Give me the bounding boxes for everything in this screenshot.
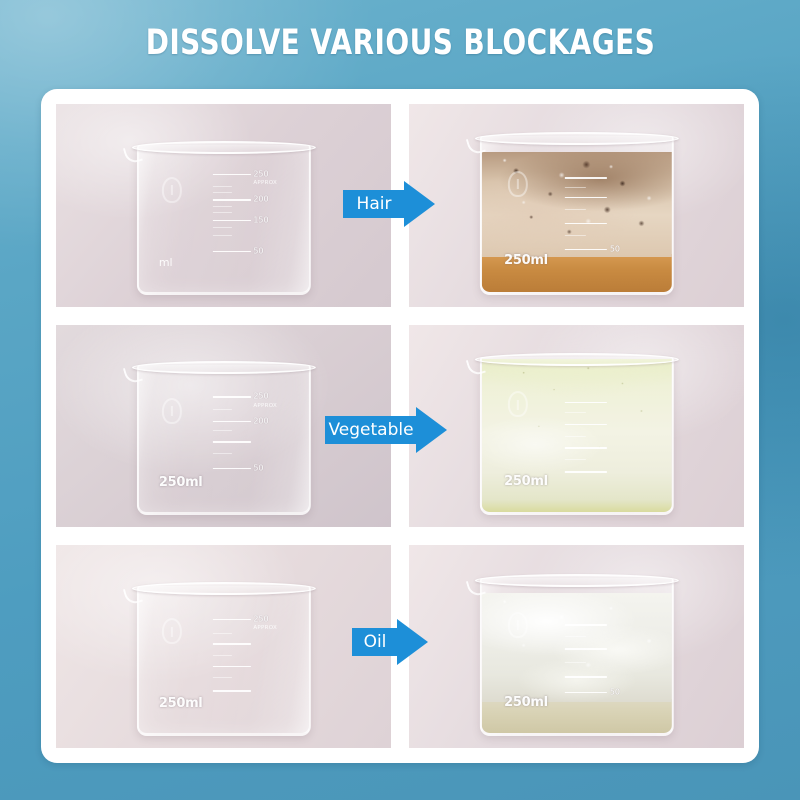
beaker-rim: [131, 582, 315, 595]
grad-label-50: 50: [610, 244, 620, 253]
graduation-scale: 50: [565, 603, 645, 702]
beaker-logo-icon: [162, 398, 182, 424]
beaker-unit-label: ml: [159, 256, 173, 269]
grad-label-250: 250: [253, 392, 268, 401]
grad-label-250: 250: [253, 614, 268, 623]
beaker-hair-after: 50 250ml: [479, 136, 673, 294]
cell-oil-after: 50 250ml: [409, 545, 744, 748]
beaker-rim: [474, 132, 678, 145]
beaker-glass: 250ml: [479, 357, 673, 515]
grad-label-200: 200: [253, 194, 268, 203]
beaker-volume-label: 250ml: [504, 253, 548, 268]
arrow-head-icon: [404, 181, 435, 227]
beaker-volume-label: 250ml: [159, 696, 203, 711]
beaker-logo-icon: [508, 171, 528, 197]
beaker-hair-before: 250 APPROX 200 150: [136, 145, 310, 295]
poster-root: DISSOLVE VARIOUS BLOCKAGES 250 APPROX: [0, 0, 800, 800]
graduation-scale: [565, 382, 645, 481]
cell-hair-after: 50 250ml: [409, 104, 744, 307]
beaker-logo-icon: [162, 618, 182, 644]
beaker-oil-after: 50 250ml: [479, 578, 673, 736]
beaker-glass: 250 APPROX 200 150: [136, 145, 310, 295]
arrow-head-icon: [397, 619, 428, 665]
beaker-glass: 50 250ml: [479, 136, 673, 294]
beaker-glass: 250 APPROX 200 50: [136, 365, 310, 515]
beaker-rim: [131, 361, 315, 374]
arrow-text: Hair: [357, 196, 392, 213]
cell-vegetable-after: 250ml: [409, 325, 744, 528]
grad-label-50: 50: [610, 687, 620, 696]
beaker-volume-label: 250ml: [159, 475, 203, 490]
arrow-label-vegetable[interactable]: Vegetable: [325, 416, 447, 444]
beaker-vegetable-after: 250ml: [479, 357, 673, 515]
beaker-logo-icon: [508, 391, 528, 417]
graduation-scale: 250 APPROX: [213, 609, 284, 703]
beaker-volume-label: 250ml: [504, 695, 548, 710]
title-bar: DISSOLVE VARIOUS BLOCKAGES: [0, 0, 800, 86]
arrow-label-hair[interactable]: Hair: [343, 190, 435, 218]
arrow-head-icon: [416, 407, 447, 453]
graduation-scale: 250 APPROX 200 150: [213, 168, 284, 262]
beaker-glass: 250 APPROX 250ml: [136, 586, 310, 736]
beaker-oil-before: 250 APPROX 250ml: [136, 586, 310, 736]
grad-label-approx: APPROX: [253, 180, 277, 186]
graduation-scale: 250 APPROX 200 50: [213, 389, 284, 483]
beaker-rim: [474, 353, 678, 366]
grad-label-250: 250: [253, 169, 268, 178]
arrow-shaft: Oil: [352, 628, 398, 656]
grad-label-150: 150: [253, 215, 268, 224]
beaker-rim: [131, 141, 315, 154]
arrow-shaft: Hair: [343, 190, 405, 218]
grad-label-50: 50: [253, 463, 263, 472]
cell-hair-before: 250 APPROX 200 150: [56, 104, 391, 307]
page-title: DISSOLVE VARIOUS BLOCKAGES: [145, 23, 655, 63]
grad-label-approx: APPROX: [253, 403, 277, 409]
arrow-text: Oil: [364, 634, 387, 651]
beaker-logo-icon: [162, 177, 182, 203]
arrow-text: Vegetable: [328, 422, 413, 439]
beaker-logo-icon: [508, 612, 528, 638]
beaker-vegetable-before: 250 APPROX 200 50: [136, 365, 310, 515]
grad-label-200: 200: [253, 416, 268, 425]
beaker-volume-label: 250ml: [504, 474, 548, 489]
cell-oil-before: 250 APPROX 250ml: [56, 545, 391, 748]
beaker-glass: 50 250ml: [479, 578, 673, 736]
beaker-rim: [474, 574, 678, 587]
arrow-label-oil[interactable]: Oil: [352, 628, 428, 656]
graduation-scale: 50: [565, 161, 645, 260]
grad-label-approx: APPROX: [253, 625, 277, 631]
arrow-shaft: Vegetable: [325, 416, 417, 444]
grad-label-50: 50: [253, 246, 263, 255]
